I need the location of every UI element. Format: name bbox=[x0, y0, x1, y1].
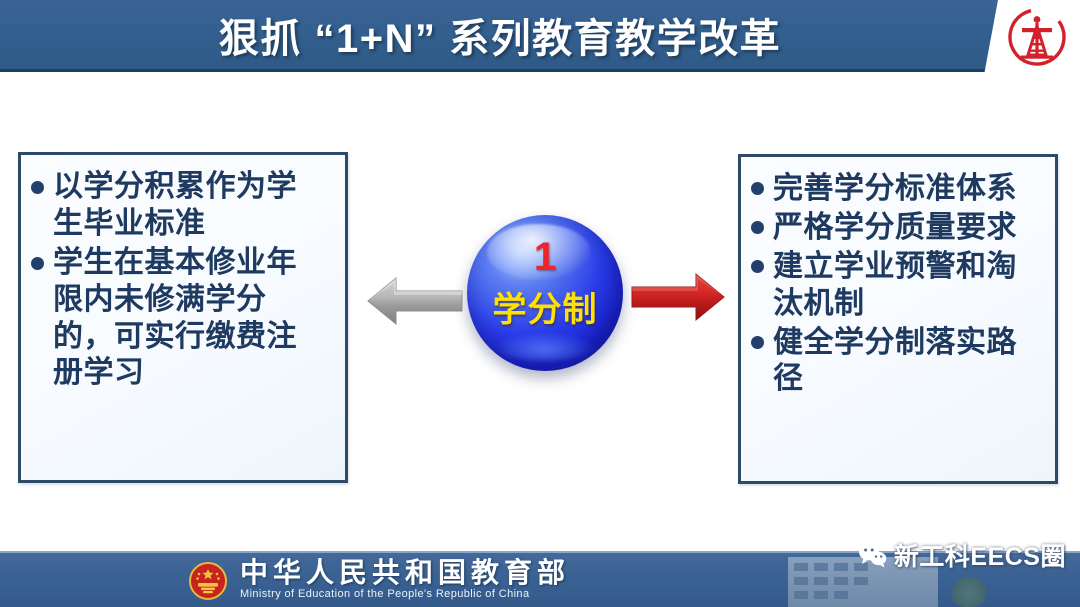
window-shape bbox=[814, 591, 828, 599]
right-content-box: 完善学分标准体系 严格学分质量要求 建立学业预警和淘汰机制 健全学分制落实路径 bbox=[738, 154, 1058, 484]
list-item: 完善学分标准体系 bbox=[751, 171, 1047, 208]
list-item: 建立学业预警和淘汰机制 bbox=[751, 249, 1047, 323]
sphere-label: 学分制 bbox=[467, 293, 623, 327]
header-logo-plate bbox=[984, 0, 1080, 75]
bullet-text: 以学分积累作为学生毕业标准 bbox=[53, 169, 301, 243]
bullet-dot-icon bbox=[751, 260, 764, 273]
bullet-dot-icon bbox=[31, 257, 44, 270]
slide-canvas: 狠抓 “1+N” 系列教育教学改革 以学分积累作为学生毕业标准 学生在基本修业年… bbox=[0, 0, 1080, 607]
window-shape bbox=[854, 577, 868, 585]
bullet-dot-icon bbox=[751, 221, 764, 234]
right-bullet-list: 完善学分标准体系 严格学分质量要求 建立学业预警和淘汰机制 健全学分制落实路径 bbox=[741, 157, 1055, 398]
list-item: 严格学分质量要求 bbox=[751, 210, 1047, 247]
bullet-text: 完善学分标准体系 bbox=[773, 171, 1031, 208]
window-shape bbox=[834, 591, 848, 599]
left-content-box: 以学分积累作为学生毕业标准 学生在基本修业年限内未修满学分的，可实行缴费注册学习 bbox=[18, 152, 348, 483]
china-national-emblem-icon bbox=[188, 561, 228, 601]
bullet-text: 严格学分质量要求 bbox=[773, 210, 1031, 247]
university-tower-logo-icon bbox=[1006, 6, 1068, 68]
list-item: 健全学分制落实路径 bbox=[751, 325, 1047, 399]
bullet-dot-icon bbox=[751, 336, 764, 349]
bullet-text: 健全学分制落实路径 bbox=[773, 325, 1031, 399]
header-band: 狠抓 “1+N” 系列教育教学改革 bbox=[0, 0, 1080, 72]
watermark-text: 新工科EECS圈 bbox=[894, 537, 1066, 573]
tree-shape bbox=[952, 577, 986, 607]
window-shape bbox=[794, 577, 808, 585]
window-shape bbox=[794, 591, 808, 599]
bullet-text: 建立学业预警和淘汰机制 bbox=[773, 249, 1031, 323]
bullet-dot-icon bbox=[31, 181, 44, 194]
list-item: 以学分积累作为学生毕业标准 bbox=[31, 169, 337, 243]
sphere-bottom-glow bbox=[497, 333, 593, 361]
window-shape bbox=[834, 563, 848, 571]
window-shape bbox=[814, 563, 828, 571]
arrow-right-icon bbox=[630, 268, 726, 326]
sphere-number: 1 bbox=[467, 237, 623, 277]
bullet-dot-icon bbox=[751, 182, 764, 195]
page-title: 狠抓 “1+N” 系列教育教学改革 bbox=[0, 0, 1000, 70]
center-sphere: 1 学分制 bbox=[467, 215, 623, 371]
list-item: 学生在基本修业年限内未修满学分的，可实行缴费注册学习 bbox=[31, 245, 337, 393]
window-shape bbox=[814, 577, 828, 585]
bullet-text: 学生在基本修业年限内未修满学分的，可实行缴费注册学习 bbox=[53, 245, 301, 393]
window-shape bbox=[794, 563, 808, 571]
arrow-left-icon bbox=[366, 272, 464, 330]
window-shape bbox=[834, 577, 848, 585]
footer-ministry-block: 中华人民共和国教育部 Ministry of Education of the … bbox=[240, 558, 570, 600]
wechat-icon bbox=[857, 542, 887, 568]
ministry-name-cn: 中华人民共和国教育部 bbox=[240, 558, 570, 587]
ministry-name-en: Ministry of Education of the People's Re… bbox=[240, 588, 570, 600]
watermark: 新工科EECS圈 bbox=[857, 537, 1066, 573]
left-bullet-list: 以学分积累作为学生毕业标准 学生在基本修业年限内未修满学分的，可实行缴费注册学习 bbox=[21, 155, 345, 392]
